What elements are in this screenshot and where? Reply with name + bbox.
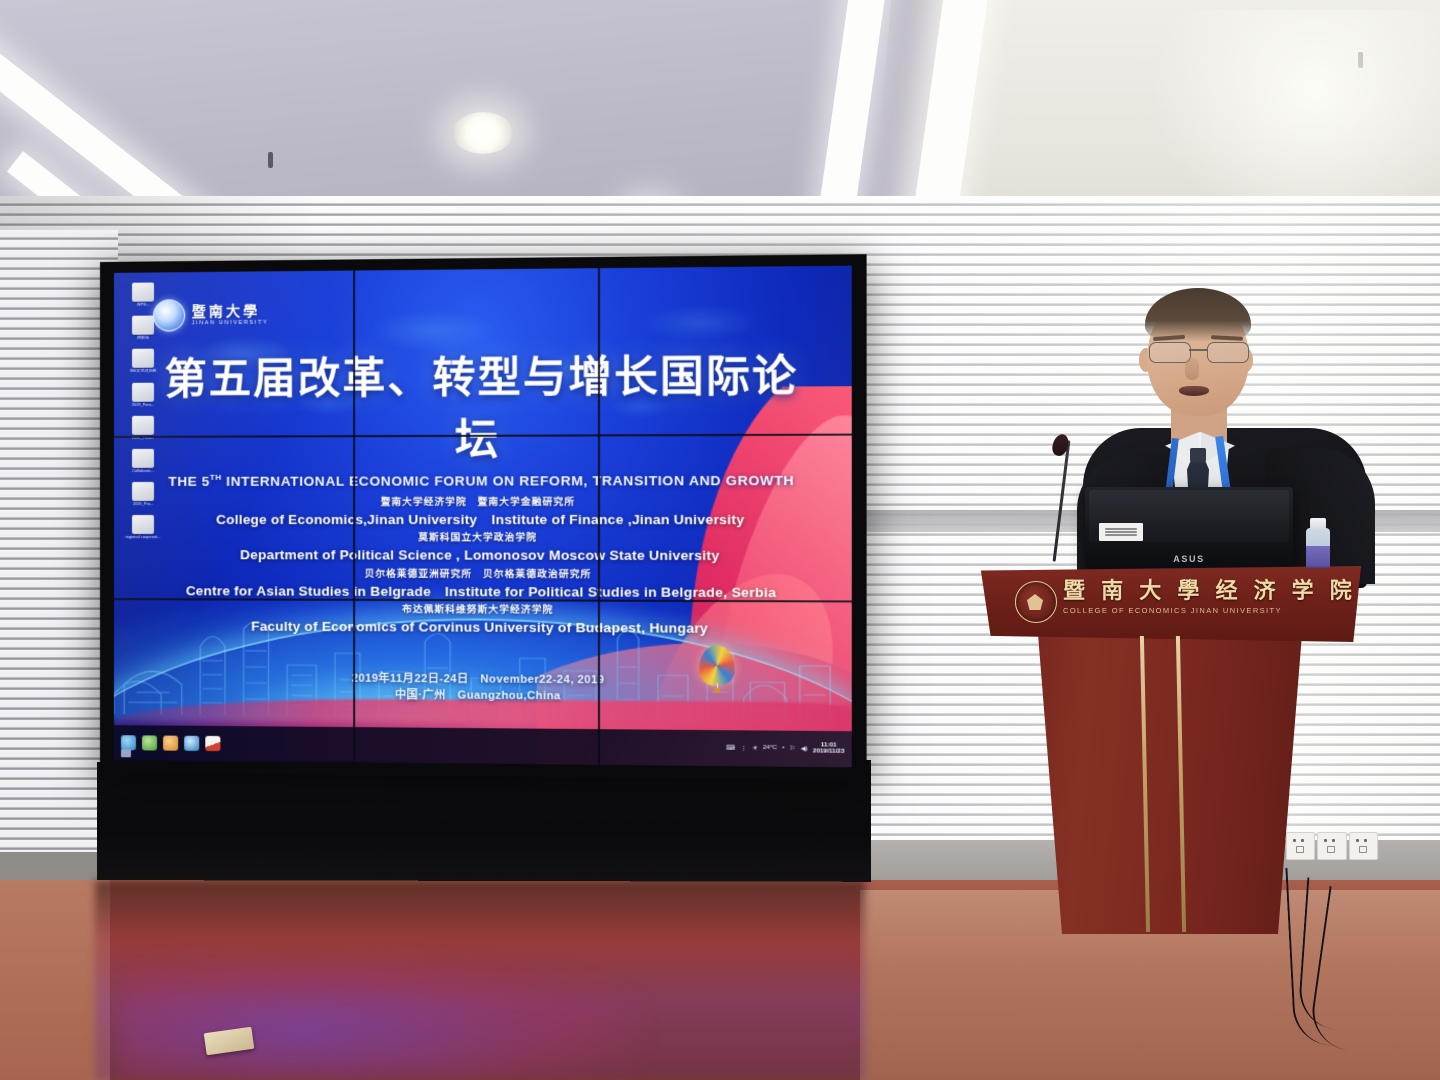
- hair: [1145, 288, 1251, 342]
- lectern-name-en: COLLEGE OF ECONOMICS JINAN UNIVERSITY: [1063, 606, 1357, 615]
- water-bottle-label: [1306, 546, 1330, 568]
- clock-date: 2019/11/23: [813, 749, 844, 756]
- windows-taskbar[interactable]: ⌨ ⋮ ☀ 24°C • ⚐ ◀) 11:01 2019/11/23: [114, 725, 852, 767]
- quick-launch-bar[interactable]: [121, 735, 220, 751]
- organizer-item: 暨南大学经济学院 暨南大学金融研究所 College of Economics,…: [114, 496, 852, 529]
- jinan-university-emblem: [1015, 581, 1057, 623]
- floor-left: [0, 880, 110, 1080]
- ie-browser-icon[interactable]: [121, 735, 136, 750]
- nose: [1185, 358, 1199, 380]
- organizer-item: 布达佩斯科维努斯大学经济学院 Faculty of Economics of C…: [114, 603, 852, 639]
- organizer-item: 贝尔格莱德亚洲研究所 贝尔格莱德政治研究所 Centre for Asian S…: [114, 568, 852, 603]
- logo-name-en: JINAN UNIVERSITY: [192, 319, 269, 326]
- logo-name-cn: 暨南大學: [192, 303, 269, 318]
- recycle-bin-icon: [132, 316, 154, 335]
- power-socket[interactable]: [1286, 832, 1315, 860]
- slide-date-location: 2019年11月22日-24日 November22-24, 2019 中国·广…: [114, 669, 852, 707]
- slide-title-block: 第五届改革、转型与增长国际论坛 THE 5TH INTERNATIONAL EC…: [114, 341, 852, 489]
- conference-hall-photo: WPS... 回收站 360安全浏览器 2019_Foru... 2019_Fo…: [0, 0, 1440, 1080]
- system-tray[interactable]: ⌨ ⋮ ☀ 24°C • ⚐ ◀) 11:01 2019/11/23: [726, 741, 844, 756]
- power-socket[interactable]: [1349, 832, 1378, 860]
- document-icon[interactable]: [205, 736, 220, 751]
- eyeglasses-icon: [1149, 342, 1249, 362]
- mouth: [1179, 386, 1209, 396]
- university-seal-icon: [153, 299, 185, 331]
- slide-title-en: THE 5TH INTERNATIONAL ECONOMIC FORUM ON …: [150, 472, 814, 489]
- jinan-university-logo: 暨南大學 JINAN UNIVERSITY: [153, 298, 268, 331]
- edge-icon[interactable]: [184, 736, 199, 751]
- lectern-sign: 暨 南 大 學 经 济 学 院 COLLEGE OF ECONOMICS JIN…: [1063, 580, 1357, 615]
- network-icon[interactable]: ⚐: [790, 745, 796, 752]
- sun-icon[interactable]: ☀: [752, 745, 758, 752]
- taskbar-clock[interactable]: 11:01 2019/11/23: [813, 742, 844, 756]
- tray-dot-icon: •: [782, 746, 784, 752]
- volume-icon[interactable]: ◀): [801, 745, 808, 752]
- tray-temperature: 24°C: [763, 745, 777, 751]
- wall-power-sockets[interactable]: [1286, 832, 1378, 860]
- file-icon: [132, 282, 154, 301]
- start-button[interactable]: [121, 749, 131, 757]
- laptop-asset-label: [1099, 523, 1143, 541]
- power-cable: [1285, 865, 1356, 1048]
- organizer-list: 暨南大学经济学院 暨南大学金融研究所 College of Economics,…: [114, 496, 852, 642]
- lectern-name-cn: 暨 南 大 學 经 济 学 院: [1063, 580, 1357, 602]
- presenter-laptop[interactable]: ASUS: [1085, 487, 1293, 569]
- necktie-knot: [1190, 448, 1206, 462]
- video-wall[interactable]: WPS... 回收站 360安全浏览器 2019_Foru... 2019_Fo…: [100, 254, 867, 780]
- water-bottle-cap: [1310, 518, 1326, 529]
- ime-icon[interactable]: ⌨: [726, 745, 735, 752]
- browser-icon[interactable]: [163, 736, 178, 751]
- presentation-slide: WPS... 回收站 360安全浏览器 2019_Foru... 2019_Fo…: [114, 266, 852, 768]
- lectern-body: [1020, 634, 1320, 934]
- media-player-icon[interactable]: [142, 735, 157, 750]
- sprinkler-head-icon: [268, 152, 273, 168]
- power-socket[interactable]: [1317, 832, 1346, 860]
- slide-title-cn: 第五届改革、转型与增长国际论坛: [150, 341, 814, 468]
- ceiling-downlight: [452, 112, 514, 154]
- laptop-brand-text: ASUS: [1085, 554, 1293, 564]
- tray-overflow-icon[interactable]: ⋮: [740, 745, 746, 752]
- floor-screen-reflection: [120, 960, 640, 1080]
- organizer-item: 莫斯科国立大学政治学院 Department of Political Scie…: [114, 532, 852, 566]
